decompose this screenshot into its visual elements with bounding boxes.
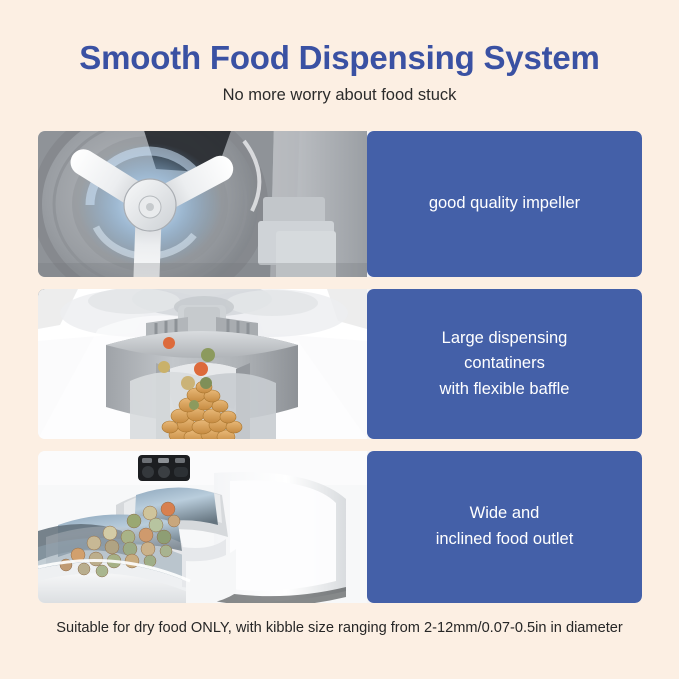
feature-caption: Large dispensing contatiners with flexib… (367, 289, 642, 439)
food-outlet-illustration (38, 451, 367, 603)
feature-list: good quality impeller (38, 131, 642, 603)
caption-line: good quality impeller (429, 191, 580, 217)
caption-line: contatiners (464, 351, 545, 377)
control-panel (138, 455, 190, 481)
page-title: Smooth Food Dispensing System (0, 0, 679, 76)
feature-caption: good quality impeller (367, 131, 642, 277)
feature-row: Large dispensing contatiners with flexib… (38, 289, 642, 439)
dispensing-carousel-photo (38, 289, 367, 439)
impeller-fan-illustration (38, 131, 367, 277)
dispensing-carousel-illustration (38, 289, 367, 439)
caption-line: Large dispensing (442, 326, 568, 352)
header: Smooth Food Dispensing System No more wo… (0, 0, 679, 105)
caption-line: with flexible baffle (440, 377, 570, 403)
footer-note: Suitable for dry food ONLY, with kibble … (0, 620, 679, 636)
page-subtitle: No more worry about food stuck (0, 76, 679, 105)
impeller-fan-photo (38, 131, 367, 277)
product-feature-infographic: Smooth Food Dispensing System No more wo… (0, 0, 679, 679)
feature-caption: Wide and inclined food outlet (367, 451, 642, 603)
caption-line: inclined food outlet (436, 527, 574, 553)
caption-line: Wide and (470, 501, 540, 527)
food-outlet-photo (38, 451, 367, 603)
feature-row: good quality impeller (38, 131, 642, 277)
feature-row: Wide and inclined food outlet (38, 451, 642, 603)
